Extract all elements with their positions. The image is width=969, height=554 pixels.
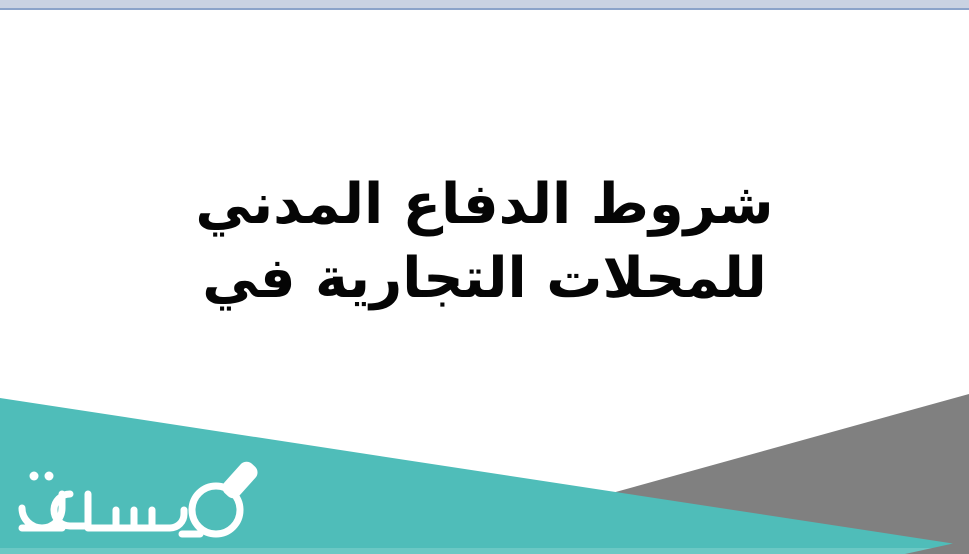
headline-line-2: للمحلات التجارية في: [0, 242, 969, 316]
gray-corner-overlap: [905, 540, 969, 554]
teal-bottom-strip: [0, 548, 969, 554]
logo-magnifier-handle: [219, 458, 261, 501]
logo-ta-marbuta-dots: [30, 472, 54, 481]
top-band-rule: [0, 8, 969, 10]
page-title: شروط الدفاع المدني للمحلات التجارية في: [0, 168, 969, 316]
thumbnail-card: شروط الدفاع المدني للمحلات التجارية في: [0, 0, 969, 554]
brand-logo[interactable]: [8, 452, 328, 544]
brand-wordmark-strokes: [22, 486, 240, 534]
headline-line-1: شروط الدفاع المدني: [0, 168, 969, 242]
gray-wedge-shape: [612, 394, 969, 554]
logo-glyph-seen-bowl: [112, 510, 184, 528]
